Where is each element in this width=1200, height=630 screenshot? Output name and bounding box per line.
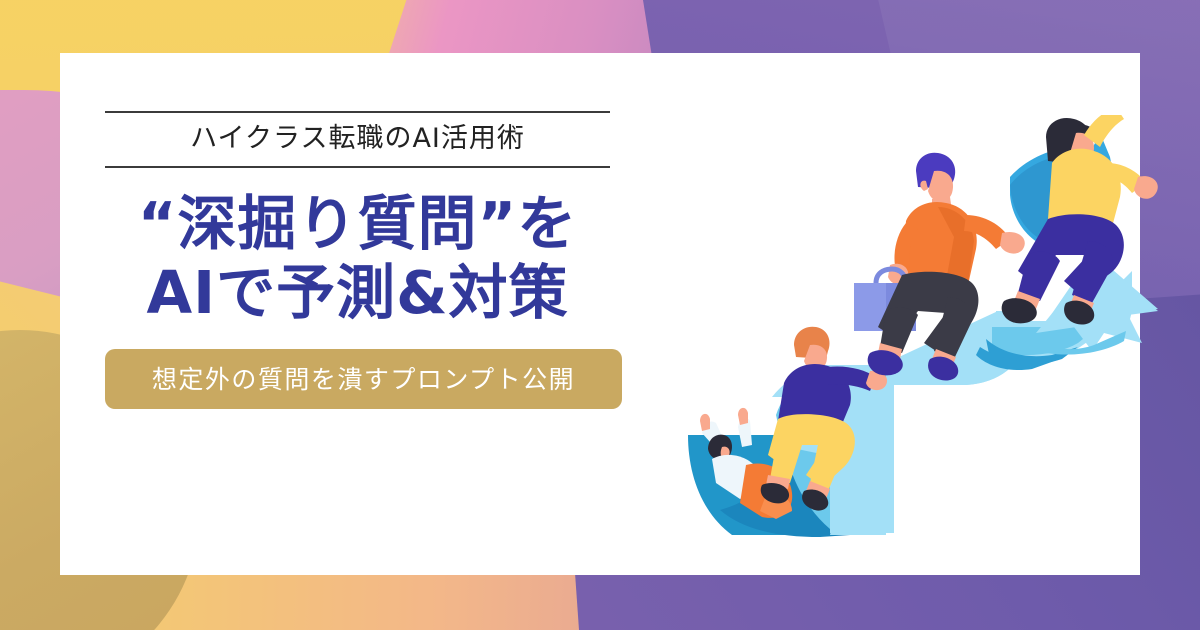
headline-line-2: AIで予測&対策 — [105, 259, 610, 327]
hero-illustration — [680, 115, 1180, 565]
page-title: “深掘り質問”を AIで予測&対策 — [105, 190, 610, 327]
status-badge: 想定外の質問を潰すプロンプト公開 — [105, 349, 622, 409]
banner-canvas: ハイクラス転職のAI活用術 “深掘り質問”を AIで予測&対策 想定外の質問を潰… — [0, 0, 1200, 630]
businessman-hand-front — [1000, 232, 1025, 254]
climbing-arrow-illustration — [680, 115, 1180, 565]
eyebrow-text: ハイクラス転職のAI活用術 — [105, 123, 610, 155]
headline-line-1: “深掘り質問”を — [105, 190, 610, 258]
superhero-hand — [1134, 176, 1158, 199]
fallen-person-hand-left — [700, 414, 710, 431]
badge-label: 想定外の質問を潰すプロンプト公開 — [152, 365, 575, 394]
text-column: ハイクラス転職のAI活用術 “深掘り質問”を AIで予測&対策 想定外の質問を潰… — [105, 111, 665, 409]
fallen-person-hand-right — [738, 408, 748, 425]
eyebrow-rules: ハイクラス転職のAI活用術 — [105, 111, 610, 168]
content-card: ハイクラス転職のAI活用術 “深掘り質問”を AIで予測&対策 想定外の質問を潰… — [60, 53, 1140, 575]
